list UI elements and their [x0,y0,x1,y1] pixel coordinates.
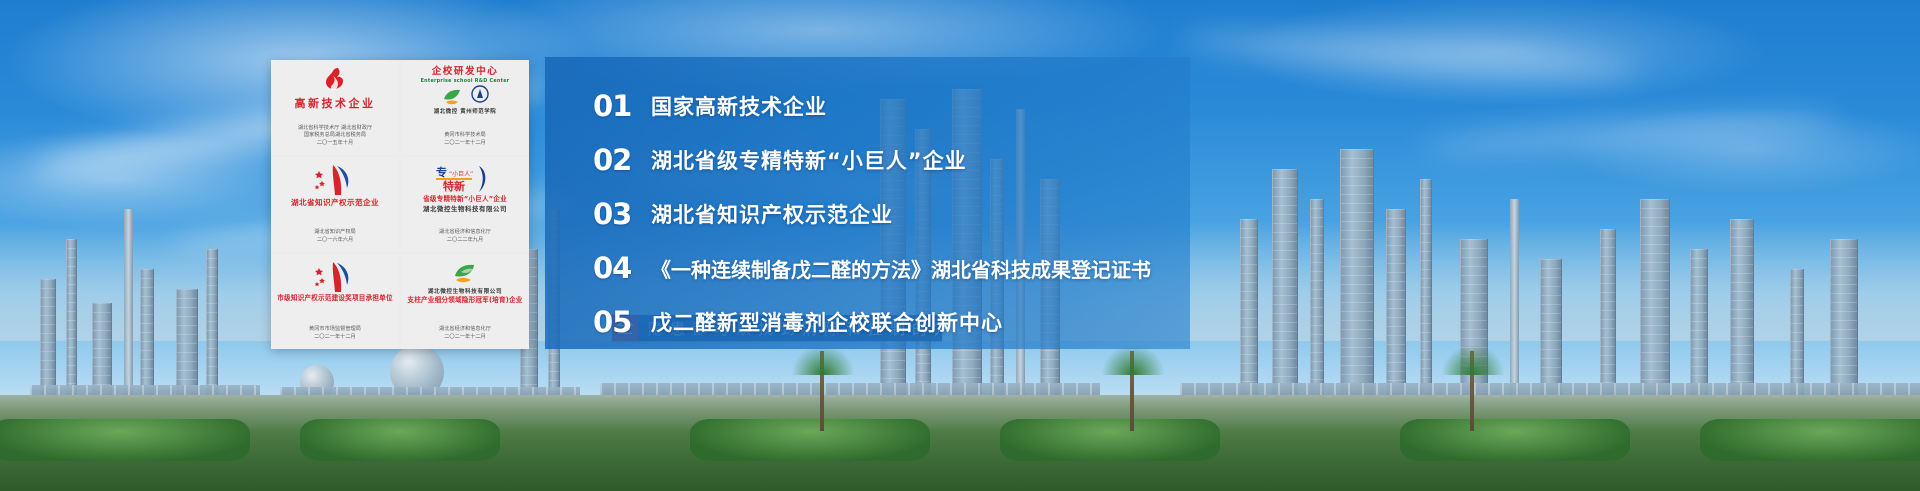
certificate-card[interactable]: 市级知识产权示范建设奖项目承担单位 黄冈市市场监督管理局 二〇二一年十二月 [271,254,399,349]
certificate-title: 高新技术企业 [295,98,376,111]
honor-number: 03 [593,197,651,231]
honor-list-item[interactable]: 05 戊二醛新型消毒剂企校联合创新中心 [593,299,1190,345]
honors-banner: 全 隐患都可以找到消除和控制的方法 高新技术企业 湖北省科学技术厅 湖北省财政厅 [0,0,1920,491]
honor-number: 04 [593,251,651,285]
certificate-issuer: 黄冈市科学技术局 二〇二一年十二月 [444,132,486,151]
enterprise-school-logo [441,84,489,108]
certificate-company: 湖北微控生物科技有限公司 [428,289,502,296]
certificate-title: 市级知识产权示范建设奖项目承担单位 [277,295,393,303]
certificate-issuer: 湖北省科学技术厅 湖北省财政厅 国家税务总局湖北省税务局 二〇一五年十月 [298,125,372,151]
honor-list-item[interactable]: 01 国家高新技术企业 [593,83,1190,129]
zhuanjingtexin-logo: 专 “小巨人” 特新 [435,163,495,195]
certificate-card[interactable]: 湖北省知识产权示范企业 湖北省知识产权局 二〇一六年六月 [271,157,399,252]
certificate-title: 企校研发中心 [432,67,499,78]
pillar-industry-logo [452,260,478,288]
honor-number: 01 [593,89,651,123]
honor-list-item[interactable]: 04 《一种连续制备戊二醛的方法》湖北省科技成果登记证书 [593,245,1190,291]
certificate-company: 湖北微控生物科技有限公司 [423,205,507,213]
certificate-issuer: 湖北省经济和信息化厅 二〇二二年九月 [439,229,491,248]
ip-star-logo [315,163,355,197]
certificate-card[interactable]: 专 “小巨人” 特新 省级专精特新“小巨人”企业 湖北微控生物科技有限公司 湖北… [401,157,529,252]
honor-list-item[interactable]: 03 湖北省知识产权示范企业 [593,191,1190,237]
certificate-sub: 湖北微控 黄州师范学院 [434,109,496,116]
honors-list-overlay: 01 国家高新技术企业 02 湖北省级专精特新“小巨人”企业 03 湖北省知识产… [545,57,1190,349]
svg-text:专: 专 [436,165,447,179]
ip-star-logo [315,260,355,294]
certificate-card[interactable]: 湖北微控生物科技有限公司 支柱产业细分领域隐形冠军(培育)企业 湖北省经济和信息… [401,254,529,349]
flame-logo [320,66,350,96]
certificates-collage: 高新技术企业 湖北省科学技术厅 湖北省财政厅 国家税务总局湖北省税务局 二〇一五… [271,60,529,349]
certificate-title-sub: 省级专精特新“小巨人”企业 [423,196,507,204]
certificate-issuer: 湖北省知识产权局 二〇一六年六月 [314,229,356,248]
certificate-issuer: 湖北省经济和信息化厅 二〇二一年十二月 [439,326,491,345]
certificate-issuer: 黄冈市市场监督管理局 二〇二一年十二月 [309,326,361,345]
honor-label: 戊二醛新型消毒剂企校联合创新中心 [651,307,1003,337]
honor-number: 05 [593,305,651,339]
certificate-title: 支柱产业细分领域隐形冠军(培育)企业 [407,297,522,305]
honor-label: 国家高新技术企业 [651,91,827,121]
svg-text:“小巨人”: “小巨人” [449,170,473,178]
svg-text:特新: 特新 [443,179,465,193]
honor-list-item[interactable]: 02 湖北省级专精特新“小巨人”企业 [593,137,1190,183]
certificate-card[interactable]: 高新技术企业 湖北省科学技术厅 湖北省财政厅 国家税务总局湖北省税务局 二〇一五… [271,60,399,155]
honor-label: 湖北省知识产权示范企业 [651,199,893,229]
honor-label: 湖北省级专精特新“小巨人”企业 [651,145,967,175]
certificate-card[interactable]: 企校研发中心 Enterprise school R&D Center 湖北微控… [401,60,529,155]
certificate-title: 湖北省知识产权示范企业 [291,199,379,208]
honor-label: 《一种连续制备戊二醛的方法》湖北省科技成果登记证书 [651,254,1151,283]
honor-number: 02 [593,143,651,177]
